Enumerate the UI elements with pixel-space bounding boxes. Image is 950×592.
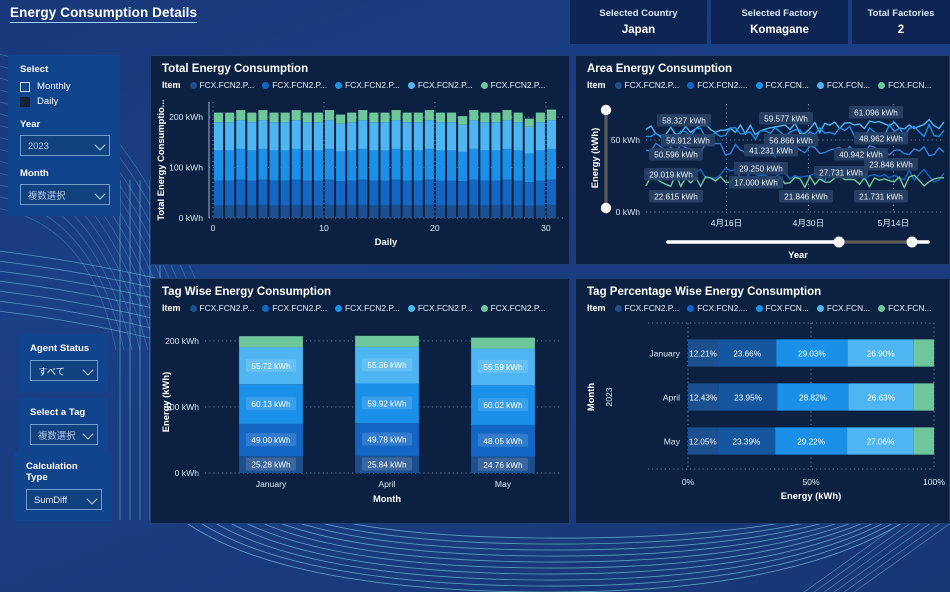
bar-segment [425, 120, 434, 149]
bar-segment [369, 122, 378, 150]
legend-color-dot-icon [687, 82, 694, 89]
bar-segment [225, 150, 234, 180]
legend-color-dot-icon [262, 305, 269, 312]
bar-segment [403, 181, 412, 206]
legend-item[interactable]: FCX.FCN2.P... [262, 303, 327, 313]
bar-segment [347, 113, 356, 123]
bar-segment [480, 113, 489, 123]
bar-segment [503, 205, 512, 218]
x-tick-label: April [378, 479, 395, 489]
legend-series-name: FCX.FCN... [766, 303, 809, 313]
bar-segment [336, 181, 345, 205]
agent-status-dropdown[interactable]: すべて [30, 360, 98, 381]
data-label: 60.02 kWh [483, 401, 523, 410]
legend-color-dot-icon [481, 305, 488, 312]
panel-title: Tag Percentage Wise Energy Consumption [576, 279, 949, 298]
y-axis-group-label: 2023 [604, 387, 614, 406]
data-label: 12.43% [689, 394, 717, 403]
chart-area-energy-consumption: 58.327 kWh59.577 kWh61.096 kWh56.912 kWh… [576, 90, 949, 262]
checkbox-row-monthly[interactable]: Monthly [20, 81, 110, 92]
bar-segment [458, 152, 467, 181]
legend-item[interactable]: FCX.FCN... [878, 80, 931, 90]
legend-item[interactable]: FCX.FCN2.P... [190, 80, 255, 90]
calculation-type-dropdown[interactable]: SumDiff [26, 489, 102, 510]
bar-segment [458, 181, 467, 205]
bar-segment [436, 181, 445, 206]
bar-segment [336, 124, 345, 152]
bar-segment [347, 181, 356, 206]
data-label: 55.72 kWh [251, 362, 291, 371]
bar-segment [436, 113, 445, 123]
legend-color-dot-icon [756, 82, 763, 89]
bar-segment [503, 120, 512, 149]
legend-color-dot-icon [615, 305, 622, 312]
bar-segment [214, 181, 223, 206]
legend-item[interactable]: FCX.FCN2.... [687, 80, 747, 90]
bar-segment [369, 181, 378, 206]
bar-segment [491, 181, 500, 206]
bar-segment [403, 150, 412, 180]
bar-segment [380, 181, 389, 206]
calculation-type-value: SumDiff [34, 494, 67, 505]
select-tag-title: Select a Tag [30, 407, 98, 418]
monthly-checkbox[interactable] [20, 82, 30, 92]
chevron-down-icon [94, 139, 105, 150]
bar-segment [914, 383, 934, 410]
legend-item[interactable]: FCX.FCN2.P... [408, 303, 473, 313]
legend-color-dot-icon [878, 305, 885, 312]
bar-segment [236, 205, 245, 218]
legend-series-name: FCX.FCN... [827, 303, 870, 313]
bar-segment [447, 181, 456, 206]
kpi-selected-factory: Selected Factory Komagane [711, 0, 848, 44]
bar-segment [325, 149, 334, 180]
bar-segment [414, 150, 423, 180]
bar-segment [269, 205, 278, 218]
kpi-selected-country: Selected Country Japan [570, 0, 707, 44]
data-label: 24.76 kWh [483, 461, 523, 470]
kpi-value: 2 [898, 24, 904, 36]
y-tick-label: January [649, 349, 680, 359]
bar-segment [358, 180, 367, 205]
bar-segment [469, 205, 478, 218]
bar-segment [914, 339, 934, 366]
panel-total-energy-consumption: Total Energy Consumption Item FCX.FCN2.P… [150, 55, 570, 265]
bar-segment [369, 113, 378, 123]
bar-segment [514, 181, 523, 206]
bar-segment [225, 122, 234, 150]
bar-segment [414, 181, 423, 206]
bar-segment [292, 120, 301, 149]
bar-segment [214, 205, 223, 218]
kpi-label: Selected Factory [741, 8, 817, 19]
x-tick-label: 50% [802, 477, 820, 487]
legend-item[interactable]: FCX.FCN2.P... [481, 303, 546, 313]
legend-series-name: FCX.FCN2.P... [272, 80, 327, 90]
bar-segment [547, 205, 556, 218]
bar-segment [239, 336, 303, 347]
legend-series-name: FCX.FCN2.P... [418, 303, 473, 313]
bar-segment [491, 205, 500, 218]
bar-segment [392, 110, 401, 120]
agent-status-title: Agent Status [30, 343, 98, 354]
data-label: 55.59 kWh [483, 363, 523, 372]
bar-segment [392, 180, 401, 205]
legend-total-energy: Item FCX.FCN2.P...FCX.FCN2.P...FCX.FCN2.… [151, 75, 569, 90]
data-label: 60.13 kWh [251, 400, 291, 409]
bar-segment [380, 122, 389, 150]
legend-series-name: FCX.FCN2.P... [200, 303, 255, 313]
legend-series-name: FCX.FCN... [827, 80, 870, 90]
legend-series-name: FCX.FCN2.P... [625, 80, 680, 90]
bar-segment [447, 113, 456, 123]
daily-label: Daily [37, 96, 58, 107]
chevron-down-icon [82, 428, 93, 439]
bar-segment [480, 205, 489, 218]
dashboard-root: Energy Consumption Details Selected Coun… [0, 0, 950, 592]
bar-segment [392, 149, 401, 180]
bar-segment [325, 180, 334, 205]
legend-color-dot-icon [335, 305, 342, 312]
data-label: 59.92 kWh [367, 399, 407, 408]
x-axis-title: Energy (kWh) [781, 490, 841, 501]
bar-segment [458, 125, 467, 152]
bar-segment [314, 150, 323, 180]
bar-segment [425, 205, 434, 218]
legend-item[interactable]: FCX.FCN2.P... [335, 303, 400, 313]
chevron-down-icon [86, 493, 97, 504]
x-axis-title: Daily [375, 236, 398, 247]
legend-series-name: FCX.FCN... [888, 80, 931, 90]
legend-series-name: FCX.FCN2.P... [625, 303, 680, 313]
bar-segment [303, 205, 312, 218]
bar-segment [491, 113, 500, 123]
y-tick-label: May [664, 437, 681, 447]
data-label: 29.250 kWh [739, 165, 783, 174]
bar-segment [358, 120, 367, 149]
bar-segment [536, 122, 545, 150]
data-label: 25.28 kWh [251, 461, 291, 470]
legend-color-dot-icon [817, 82, 824, 89]
bar-segment [547, 180, 556, 205]
bar-segment [336, 115, 345, 124]
kpi-total-factories: Total Factories 2 [852, 0, 950, 44]
bar-segment [392, 120, 401, 149]
kpi-value: Japan [622, 24, 655, 36]
bar-segment [480, 122, 489, 150]
bar-segment [369, 205, 378, 218]
bar-segment [469, 120, 478, 149]
bar-segment [536, 205, 545, 218]
bar-segment [525, 127, 534, 154]
bar-segment [347, 122, 356, 150]
bar-segment [471, 338, 535, 349]
legend-item[interactable]: FCX.FCN2.P... [481, 80, 546, 90]
data-label: 41.231 kWh [749, 147, 793, 156]
daily-checkbox[interactable] [20, 97, 30, 107]
data-label: 12.21% [689, 350, 717, 359]
page-title: Energy Consumption Details [10, 5, 197, 23]
legend-color-dot-icon [817, 305, 824, 312]
y-axis-title: Total Energy Consumptio... [155, 99, 166, 220]
bar-segment [355, 336, 419, 347]
month-value: 複数選択 [28, 188, 66, 202]
bar-segment [269, 150, 278, 180]
y-tick-label: 50 kWh [611, 135, 640, 145]
bar-segment [247, 205, 256, 218]
legend-series-name: FCX.FCN2.P... [491, 80, 546, 90]
chart-total-energy-consumption: 0 kWh100 kWh200 kWh0102030DailyTotal Ene… [151, 90, 569, 262]
bar-segment [514, 113, 523, 123]
vertical-slider-handle-top[interactable] [601, 105, 611, 115]
bar-segment [503, 180, 512, 205]
chart-tag-wise-energy-consumption: 25.28 kWh49.00 kWh60.13 kWh55.72 kWhJanu… [151, 313, 569, 521]
bar-segment [236, 180, 245, 205]
legend-tag-wise: Item FCX.FCN2.P...FCX.FCN2.P...FCX.FCN2.… [151, 298, 569, 313]
range-slider-handle-left[interactable] [834, 237, 845, 248]
x-tick-label: 100% [923, 477, 945, 487]
bar-segment [303, 150, 312, 180]
agent-status-value: すべて [38, 364, 65, 378]
bar-segment [303, 181, 312, 206]
bar-segment [469, 180, 478, 205]
bar-segment [458, 116, 467, 125]
legend-item-label: Item [162, 80, 181, 90]
x-tick-label: 4月30日 [793, 218, 825, 228]
legend-item[interactable]: FCX.FCN2.P... [335, 80, 400, 90]
legend-series-name: FCX.FCN... [888, 303, 931, 313]
bar-segment [525, 182, 534, 206]
bar-segment [236, 120, 245, 149]
data-label: 23.846 kWh [869, 161, 913, 170]
y-tick-label: 200 kWh [165, 336, 199, 346]
data-label: 28.82% [799, 394, 827, 403]
legend-color-dot-icon [190, 82, 197, 89]
legend-item[interactable]: FCX.FCN... [756, 303, 809, 313]
panel-title: Total Energy Consumption [151, 56, 569, 75]
data-label: 17.000 kWh [734, 179, 778, 188]
bar-segment [480, 150, 489, 180]
legend-item[interactable]: FCX.FCN2.P... [615, 80, 680, 90]
bar-segment [258, 180, 267, 205]
panel-area-energy-consumption: Area Energy Consumption Item FCX.FCN2.P.… [575, 55, 950, 265]
legend-item-label: Item [587, 303, 606, 313]
x-tick-label: 20 [430, 223, 440, 233]
bar-segment [314, 113, 323, 123]
chevron-down-icon [94, 188, 105, 199]
bar-segment [503, 149, 512, 180]
bar-segment [358, 149, 367, 180]
bar-segment [425, 149, 434, 180]
month-label: Month [20, 168, 110, 179]
bar-segment [214, 113, 223, 123]
bar-segment [358, 205, 367, 218]
select-title: Select [20, 64, 110, 75]
data-label: 23.66% [733, 350, 761, 359]
legend-item-label: Item [162, 303, 181, 313]
select-tag-dropdown[interactable]: 複数選択 [30, 424, 98, 445]
kpi-value: Komagane [750, 24, 809, 36]
data-label: 23.39% [733, 438, 761, 447]
data-label: 27.731 kWh [819, 169, 863, 178]
bar-segment [225, 205, 234, 218]
x-tick-label: 0% [682, 477, 695, 487]
legend-color-dot-icon [481, 82, 488, 89]
legend-series-name: FCX.FCN2.P... [418, 80, 473, 90]
x-tick-label: January [256, 479, 287, 489]
bar-segment [392, 205, 401, 218]
bar-segment [336, 205, 345, 218]
legend-color-dot-icon [878, 82, 885, 89]
y-tick-label: 200 kWh [169, 112, 203, 122]
data-label: 29.22% [797, 438, 825, 447]
bar-segment [347, 150, 356, 180]
bar-segment [547, 149, 556, 180]
data-label: 50.596 kWh [654, 151, 698, 160]
bar-segment [380, 150, 389, 180]
legend-item[interactable]: FCX.FCN... [817, 80, 870, 90]
bar-segment [436, 150, 445, 180]
bar-segment [525, 206, 534, 218]
legend-item[interactable]: FCX.FCN2.... [687, 303, 747, 313]
legend-area-energy: Item FCX.FCN2.P...FCX.FCN2....FCX.FCN...… [576, 75, 949, 90]
legend-item[interactable]: FCX.FCN... [756, 80, 809, 90]
select-tag-value: 複数選択 [38, 428, 76, 442]
bar-segment [514, 150, 523, 180]
y-axis-title: Month [585, 383, 596, 411]
kpi-bar: Selected Country Japan Selected Factory … [570, 0, 950, 44]
bar-segment [469, 110, 478, 120]
y-tick-label: 0 kWh [175, 468, 200, 478]
bar-segment [225, 181, 234, 206]
bar-segment [914, 427, 934, 454]
x-tick-label: 30 [541, 223, 551, 233]
bar-segment [447, 205, 456, 218]
bar-segment [258, 149, 267, 180]
bar-segment [436, 122, 445, 150]
x-axis-title: Year [788, 249, 808, 260]
legend-series-name: FCX.FCN2.P... [272, 303, 327, 313]
bar-segment [281, 205, 290, 218]
bar-segment [325, 120, 334, 149]
bar-segment [536, 150, 545, 180]
bar-segment [281, 150, 290, 180]
bar-segment [425, 180, 434, 205]
legend-item[interactable]: FCX.FCN2.P... [262, 80, 327, 90]
calculation-type-title: Calculation Type [26, 461, 102, 483]
bar-segment [425, 110, 434, 120]
data-label: 29.03% [798, 350, 826, 359]
bar-segment [369, 150, 378, 180]
bar-segment [403, 113, 412, 123]
bar-segment [247, 113, 256, 123]
bar-segment [236, 149, 245, 180]
bar-segment [380, 113, 389, 123]
legend-color-dot-icon [756, 305, 763, 312]
x-tick-label: May [495, 479, 512, 489]
bar-segment [292, 180, 301, 205]
bar-segment [225, 113, 234, 123]
vertical-slider-handle-bottom[interactable] [601, 203, 611, 213]
y-axis-title: Energy (kWh) [160, 372, 171, 432]
bar-segment [336, 151, 345, 181]
legend-item[interactable]: FCX.FCN2.P... [615, 303, 680, 313]
data-label: 56.912 kWh [666, 137, 710, 146]
bar-segment [525, 153, 534, 182]
bar-segment [547, 110, 556, 121]
bar-segment [536, 113, 545, 123]
data-label: 21.731 kWh [859, 193, 903, 202]
legend-series-name: FCX.FCN2.P... [200, 80, 255, 90]
bar-segment [414, 205, 423, 218]
legend-item[interactable]: FCX.FCN2.P... [190, 303, 255, 313]
data-label: 55.36 kWh [367, 361, 407, 370]
year-label: Year [20, 119, 110, 130]
bar-segment [258, 120, 267, 149]
legend-series-name: FCX.FCN2.... [697, 303, 747, 313]
legend-item[interactable]: FCX.FCN2.P... [408, 80, 473, 90]
bar-segment [514, 205, 523, 218]
month-dropdown[interactable]: 複数選択 [20, 184, 110, 205]
bar-segment [325, 205, 334, 218]
x-axis-title: Month [373, 493, 401, 504]
y-tick-label: 0 kWh [616, 207, 641, 217]
filter-card-calculation-type: Calculation Type SumDiff [14, 452, 112, 521]
data-label: 21.846 kWh [784, 193, 828, 202]
data-label: 27.06% [866, 438, 894, 447]
bar-segment [258, 205, 267, 218]
bar-segment [214, 150, 223, 180]
bar-segment [292, 110, 301, 120]
bar-segment [491, 150, 500, 180]
range-slider-handle-right[interactable] [907, 237, 918, 248]
data-label: 48.05 kWh [483, 437, 523, 446]
checkbox-row-daily[interactable]: Daily [20, 96, 110, 107]
x-tick-label: 0 [211, 223, 216, 233]
data-label: 29.019 kWh [649, 171, 693, 180]
legend-color-dot-icon [335, 82, 342, 89]
bar-segment [414, 113, 423, 123]
legend-item[interactable]: FCX.FCN... [878, 303, 931, 313]
bar-segment [269, 181, 278, 206]
year-dropdown[interactable]: 2023 [20, 135, 110, 156]
y-tick-label: April [663, 393, 680, 403]
legend-series-name: FCX.FCN2.P... [345, 303, 400, 313]
legend-color-dot-icon [615, 82, 622, 89]
legend-tag-percentage: Item FCX.FCN2.P...FCX.FCN2....FCX.FCN...… [576, 298, 949, 313]
x-tick-label: 4月16日 [711, 218, 743, 228]
x-tick-label: 5月14日 [878, 218, 910, 228]
legend-series-name: FCX.FCN2.... [697, 80, 747, 90]
legend-item[interactable]: FCX.FCN... [817, 303, 870, 313]
panel-tag-wise-energy-consumption: Tag Wise Energy Consumption Item FCX.FCN… [150, 278, 570, 524]
year-value: 2023 [28, 140, 49, 151]
data-label: 22.615 kWh [654, 193, 698, 202]
legend-item-label: Item [587, 80, 606, 90]
monthly-label: Monthly [37, 81, 71, 92]
bar-segment [403, 205, 412, 218]
bar-segment [303, 113, 312, 123]
bar-segment [314, 122, 323, 150]
data-label: 59.577 kWh [764, 115, 808, 124]
data-label: 26.90% [867, 350, 895, 359]
bar-segment [325, 110, 334, 120]
bar-segment [236, 110, 245, 120]
bar-segment [247, 150, 256, 180]
kpi-label: Selected Country [599, 8, 677, 19]
bar-segment [247, 181, 256, 206]
bar-segment [380, 205, 389, 218]
